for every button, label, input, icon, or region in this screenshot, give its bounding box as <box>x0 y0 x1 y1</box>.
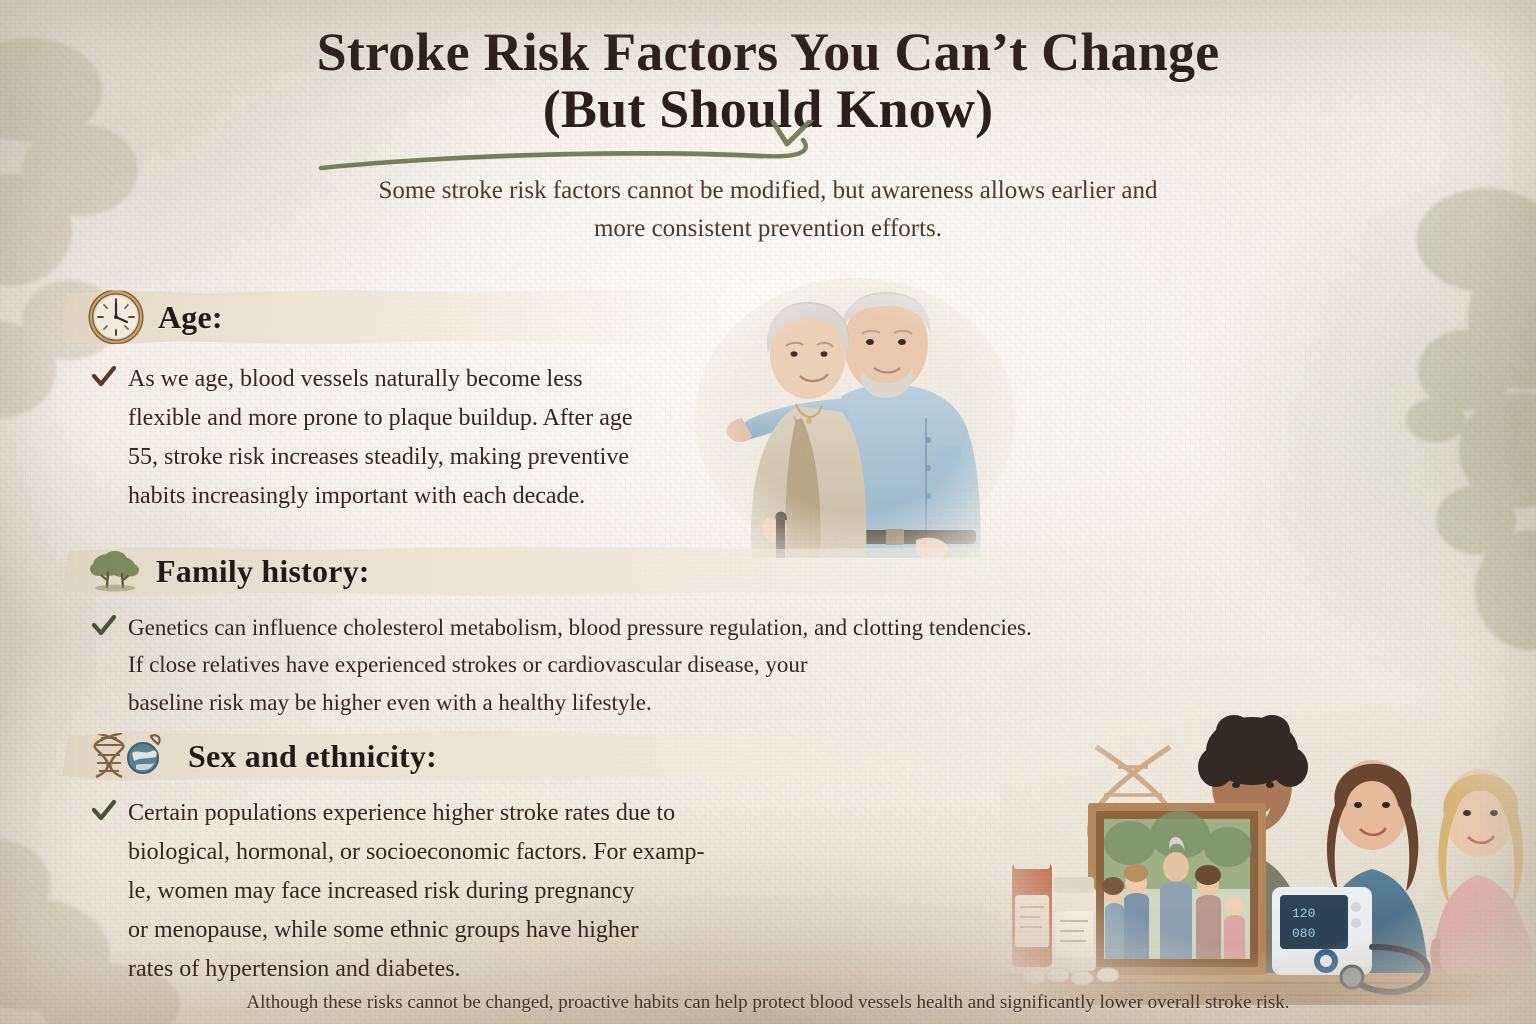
section-body-sex-and-ethnicity: Certain populations experience higher st… <box>62 794 1102 988</box>
tree-icon <box>88 549 142 593</box>
section-banner-family-history: Family history: <box>62 545 1192 597</box>
clock-icon <box>88 289 144 345</box>
section-heading-family-history: Family history: <box>156 553 370 590</box>
elderly-couple-illustration <box>690 268 1020 558</box>
section-heading-sex-and-ethnicity: Sex and ethnicity: <box>188 738 437 775</box>
checkmark-icon <box>92 800 116 822</box>
checkmark-icon <box>92 615 116 637</box>
section-body-family-history: Genetics can influence cholesterol metab… <box>62 609 1192 721</box>
section-family-history: Family history: Genetics can influence c… <box>62 545 1192 721</box>
section-body-age: As we age, blood vessels naturally becom… <box>62 360 722 516</box>
poster-header: Stroke Risk Factors You Can’t Change (Bu… <box>0 24 1536 248</box>
flourish-swoosh-icon <box>311 120 851 182</box>
section-banner-age: Age: <box>62 288 722 346</box>
section-heading-age: Age: <box>158 299 223 336</box>
poster-subtitle: Some stroke risk factors cannot be modif… <box>373 172 1163 248</box>
section-age: Age: As we age, blood vessels naturally … <box>62 288 722 516</box>
infographic-poster: Stroke Risk Factors You Can’t Change (Bu… <box>0 0 1536 1024</box>
dna-globe-icon <box>88 731 174 781</box>
title-block: Stroke Risk Factors You Can’t Change (Bu… <box>317 24 1220 138</box>
section-body-text-age: As we age, blood vessels naturally becom… <box>128 360 633 516</box>
section-body-text-sex-and-ethnicity: Certain populations experience higher st… <box>128 794 705 988</box>
svg-text:080: 080 <box>1292 926 1315 941</box>
checkmark-icon <box>92 366 116 388</box>
section-body-text-family-history: Genetics can influence cholesterol metab… <box>128 609 1032 721</box>
section-sex-and-ethnicity: Sex and ethnicity: Certain populations e… <box>62 730 1102 988</box>
poster-footer: Although these risks cannot be changed, … <box>0 992 1536 1014</box>
svg-text:120: 120 <box>1292 906 1315 921</box>
poster-title-line1: Stroke Risk Factors You Can’t Change <box>317 24 1220 81</box>
section-banner-sex-and-ethnicity: Sex and ethnicity: <box>62 730 1102 782</box>
